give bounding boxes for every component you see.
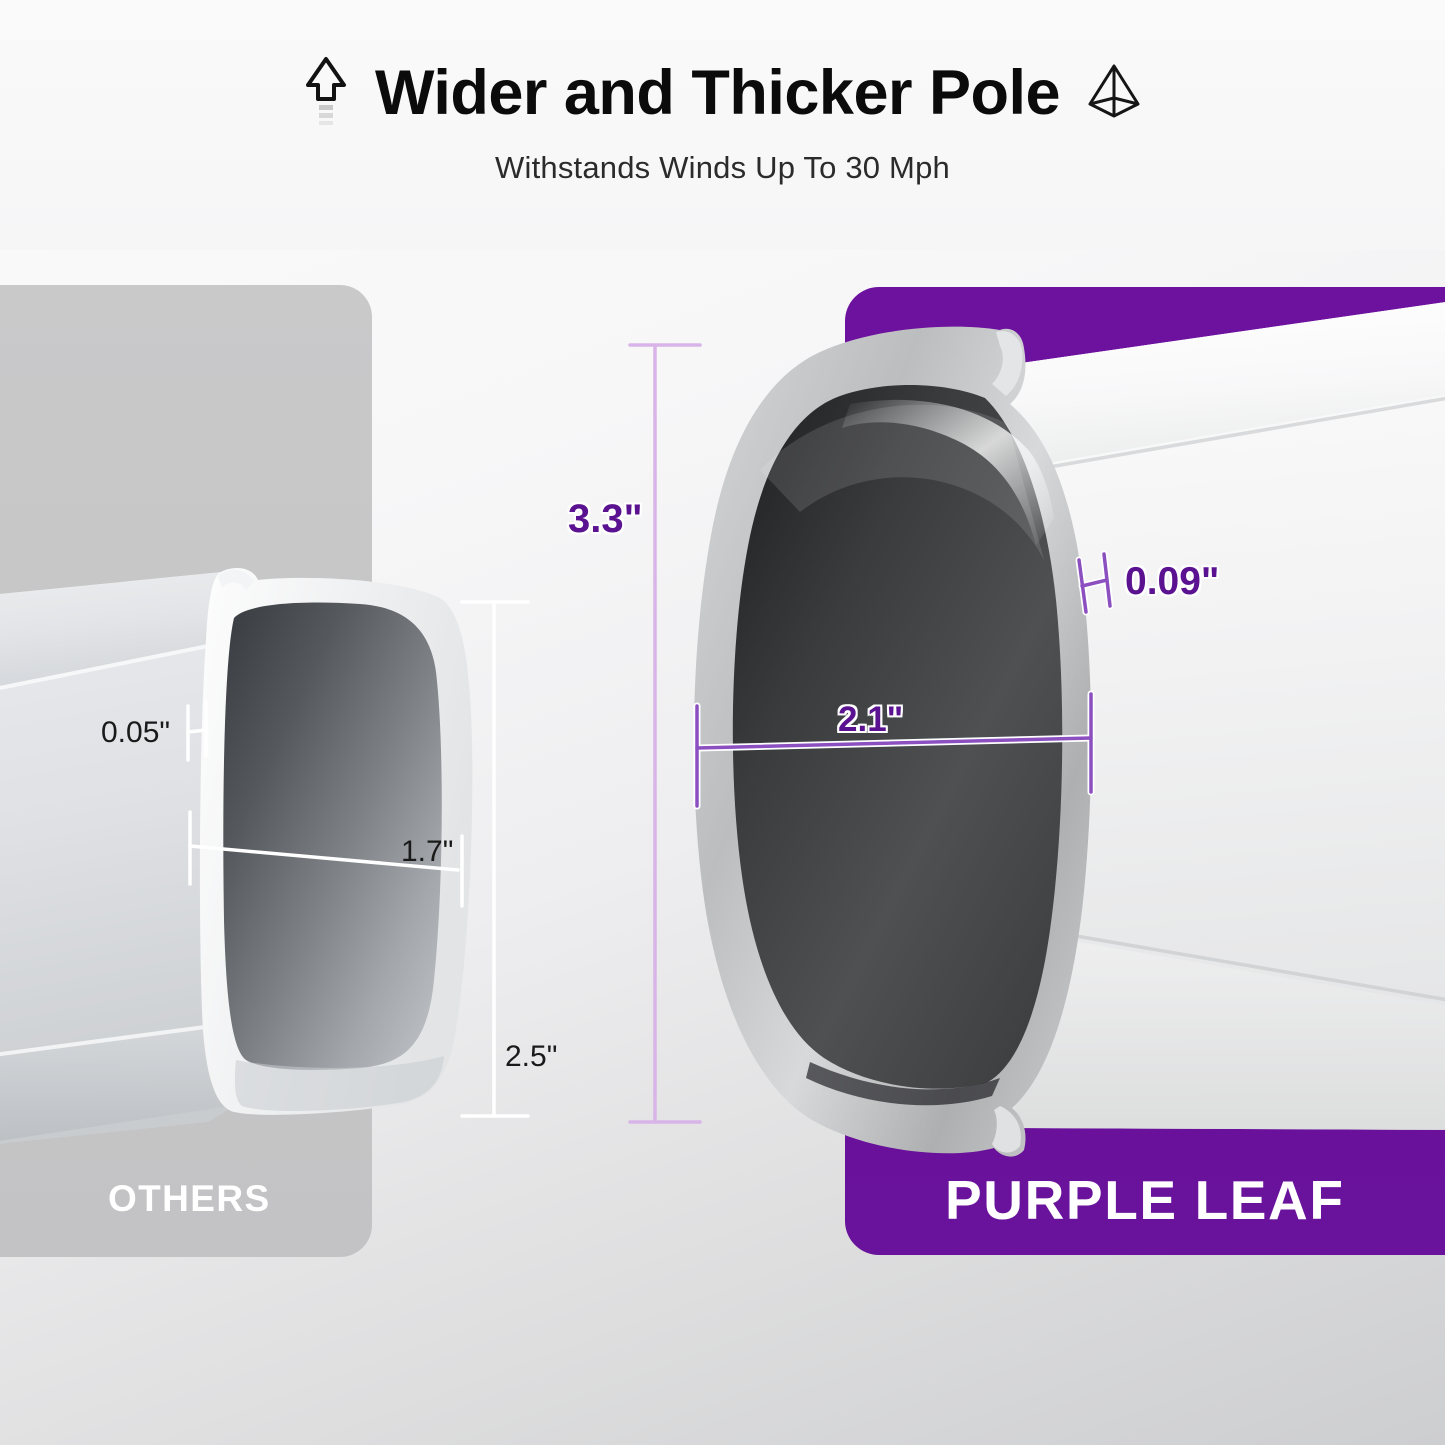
others-height-label: 2.5" xyxy=(505,1040,557,1074)
purple-leaf-height-label: 3.3" xyxy=(568,497,643,542)
others-brand-label: OTHERS xyxy=(108,1178,271,1220)
purple-leaf-width-label: 2.1" xyxy=(838,700,903,740)
infographic-canvas: Wider and Thicker Pole Withstands Winds … xyxy=(0,0,1445,1445)
others-wall-thickness-label: 0.05" xyxy=(101,716,170,750)
purple-leaf-wall-thickness-label: 0.09" xyxy=(1125,560,1219,604)
purple-leaf-pole-illustration xyxy=(694,300,1445,1157)
others-width-label: 1.7" xyxy=(401,835,453,869)
purple-leaf-brand-label: PURPLE LEAF xyxy=(945,1168,1345,1232)
